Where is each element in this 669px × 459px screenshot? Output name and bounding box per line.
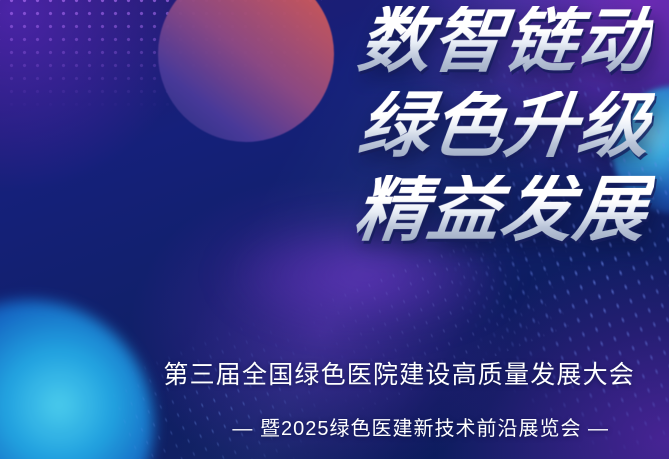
headline-block: 数智链动 绿色升级 精益发展 bbox=[0, 6, 651, 246]
exhibition-subtitle: — 暨2025绿色医建新技术前沿展览会 — bbox=[0, 412, 609, 441]
conference-title: 第三届全国绿色医院建设高质量发展大会 bbox=[0, 355, 635, 391]
headline-line-1: 数智链动 bbox=[0, 6, 655, 77]
headline-line-3: 精益发展 bbox=[0, 175, 655, 246]
conference-poster: 数智链动 绿色升级 精益发展 第三届全国绿色医院建设高质量发展大会 — 暨202… bbox=[0, 0, 669, 459]
headline-line-2: 绿色升级 bbox=[0, 91, 655, 162]
